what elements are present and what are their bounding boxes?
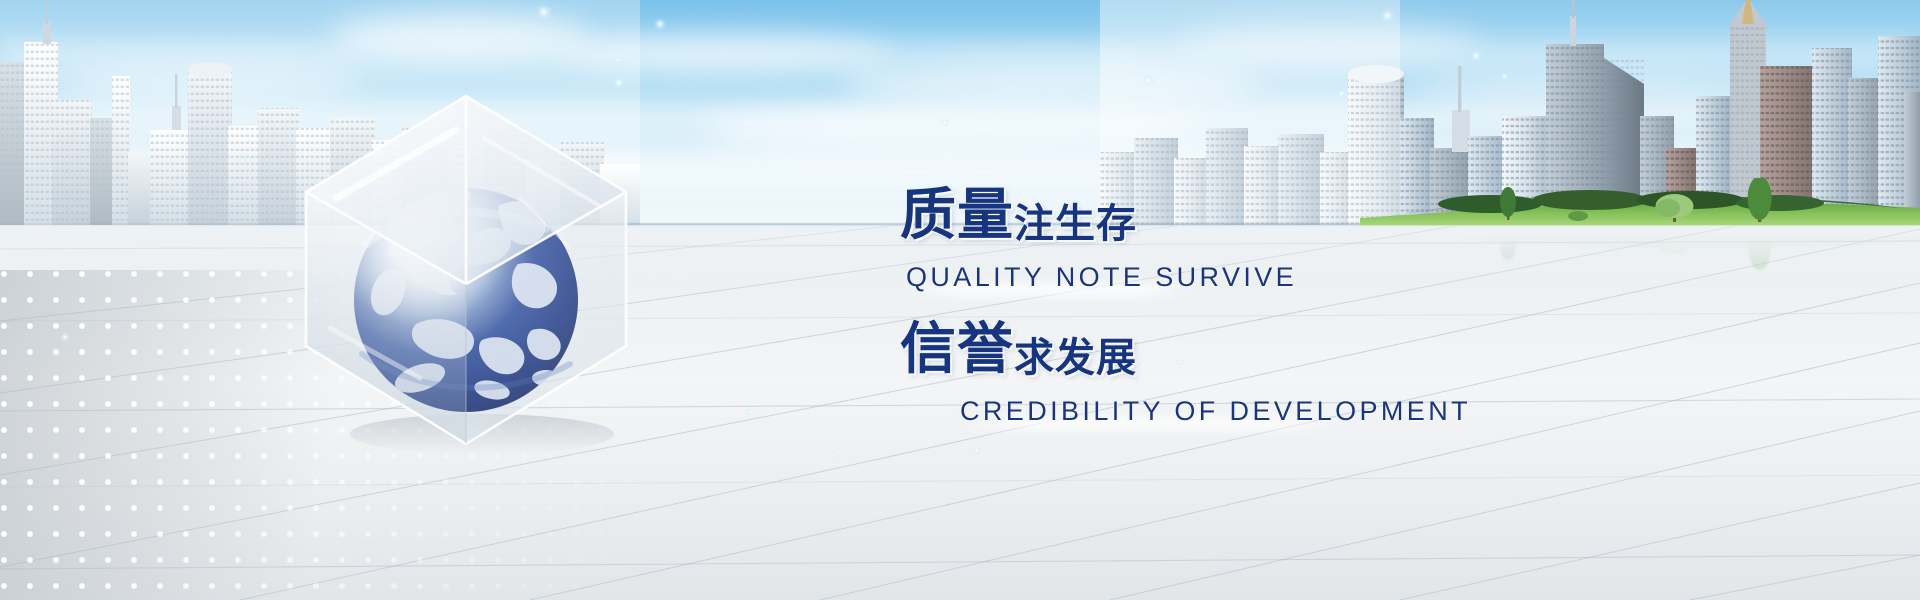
slogan-line-1-cn-large: 质量 xyxy=(900,188,1014,244)
slogan-line-2-cn: 信誉 求发展 xyxy=(900,322,1137,378)
slogan-line-2-cn-large: 信誉 xyxy=(900,322,1014,378)
slogan-line-1-en: QUALITY NOTE SURVIVE xyxy=(906,262,1297,293)
slogan-line-2-en: CREDIBILITY OF DEVELOPMENT xyxy=(960,396,1471,427)
crystal-cube-with-globe xyxy=(270,78,670,478)
slogan-line-1-cn-small: 注生存 xyxy=(1014,204,1137,244)
green-lawn-with-trees xyxy=(1360,178,1920,226)
slogan-line-1-cn: 质量 注生存 xyxy=(900,188,1137,244)
corporate-banner: 质量 注生存 QUALITY NOTE SURVIVE 信誉 求发展 CREDI… xyxy=(0,0,1920,600)
slogan-line-2-cn-small: 求发展 xyxy=(1014,338,1137,378)
